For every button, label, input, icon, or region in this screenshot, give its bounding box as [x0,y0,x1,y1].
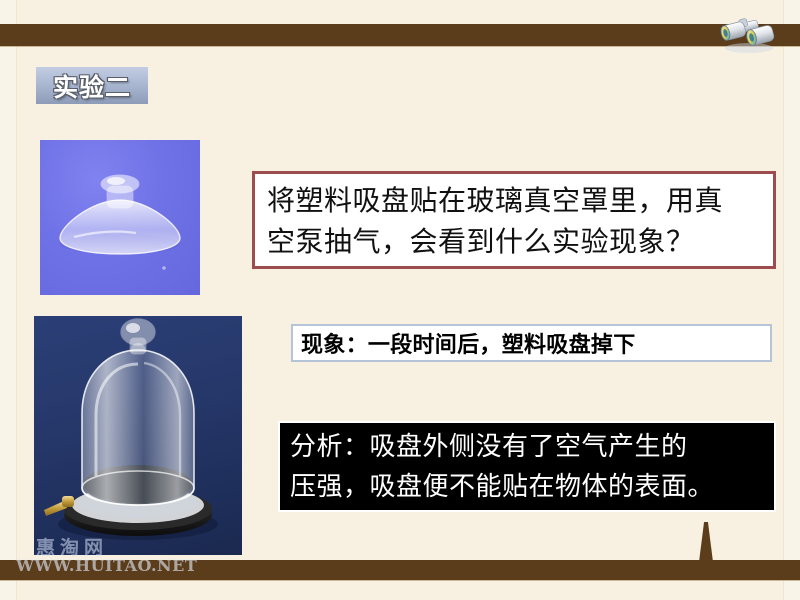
experiment-title-label: 实验二 [53,68,131,104]
top-accent-bar [0,24,800,47]
analysis-text-box: 分析：吸盘外侧没有了空气产生的 压强，吸盘便不能贴在物体的表面。 [278,421,776,512]
decorative-post [699,522,713,562]
right-margin-strip [783,0,800,600]
vacuum-bell-jar-photo [34,316,242,555]
analysis-line-1: 分析：吸盘外侧没有了空气产生的 [290,427,768,467]
analysis-line-2: 压强，吸盘便不能贴在物体的表面。 [290,467,768,507]
bottom-accent-bar [0,560,800,581]
question-text-box: 将塑料吸盘贴在玻璃真空罩里，用真 空泵抽气，会看到什么实验现象？ [252,171,776,269]
question-line-2: 空泵抽气，会看到什么实验现象？ [267,221,763,262]
suction-cup-photo [40,140,200,295]
binoculars-icon [718,14,780,54]
phenomenon-line-1: 现象：一段时间后，塑料吸盘掉下 [301,327,636,359]
slide-canvas: 实验二 [0,0,800,600]
phenomenon-text-box: 现象：一段时间后，塑料吸盘掉下 [291,324,772,362]
experiment-title-badge: 实验二 [36,67,148,104]
question-line-1: 将塑料吸盘贴在玻璃真空罩里，用真 [267,180,763,221]
left-margin-strip [0,0,17,600]
